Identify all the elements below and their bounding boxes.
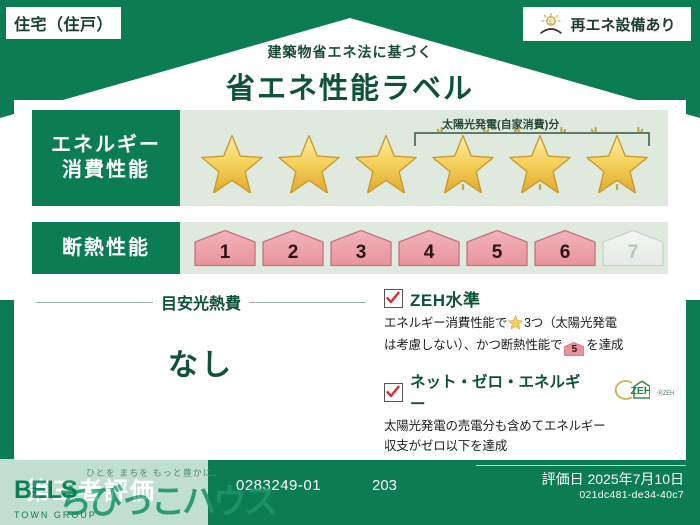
zeh-standard-title: ZEH水準 [410,286,481,311]
criteria-block: ZEH水準 エネルギー消費性能で 3つ（太陽光発電 は考慮しない）、かつ断熱性能… [384,286,674,470]
divider-left [36,302,153,303]
zeh-desc-part2: 3つ（太陽光発電 [524,316,617,330]
energy-performance-label-box: エネルギー 消費性能 [32,110,180,206]
energy-label-line1: エネルギー [51,133,161,158]
utility-cost-heading: 目安光熱費 [161,290,241,314]
zeh-logo-icon: ZEH [604,379,650,406]
zeh-desc-part1: エネルギー消費性能で [384,316,507,330]
insulation-chip-value: 5 [492,242,503,264]
inline-chip-value: 5 [572,344,577,355]
criterion-zeh-head: ZEH水準 [384,286,674,311]
insulation-performance-row: 断熱性能 1 2 3 [32,222,668,274]
room-number: 203 [372,477,397,494]
watermark-brand: BELS [14,476,77,505]
energy-performance-label: 住宅（住戸） E 再エネ設備あり 建築物省エネ法に基づく 省エネ性能ラベル [0,0,700,525]
star-base [196,122,268,194]
insulation-chip-7: 7 [602,229,664,267]
insulation-scale-area: 1 2 3 4 5 [180,222,668,274]
insulation-chip-value: 7 [628,242,639,264]
footer-divider [476,465,686,466]
criterion-net-zero-energy: ネット・ゼロ・エネルギー ZEH ⓇZEH 太陽光発電の売電分も含めてエネルギー… [384,370,674,456]
utility-cost-value: なし [36,340,366,384]
net-zero-energy-description: 太陽光発電の売電分も含めてエネルギー 収支がゼロ以下を達成 [384,417,674,456]
insulation-chip-1: 1 [194,229,256,267]
evaluation-uuid: 021dc481-de34-40c7 [579,489,684,501]
solar-bracket [414,132,650,146]
nze-desc-line2: 収支がゼロ以下を達成 [384,439,507,453]
divider-right [249,302,366,303]
energy-performance-row: エネルギー 消費性能 太陽光発電(自家消費)分 [32,110,668,206]
net-zero-energy-checkbox[interactable] [384,383,403,402]
net-zero-energy-title: ネット・ゼロ・エネルギー [410,370,593,414]
insulation-chip-value: 3 [356,242,367,264]
insulation-chip-4: 4 [398,229,460,267]
zeh-standard-checkbox[interactable] [384,289,403,308]
sun-icon: E [538,12,564,36]
criterion-nze-head: ネット・ゼロ・エネルギー ZEH ⓇZEH [384,370,674,414]
renewable-equipment-label: 再エネ設備あり [570,14,675,35]
insulation-chip-value: 2 [288,242,299,264]
insulation-chip-6: 6 [534,229,596,267]
evaluation-date-label: 評価日 [542,471,584,487]
insulation-chip-value: 4 [424,242,435,264]
utility-cost-heading-row: 目安光熱費 [36,290,366,314]
energy-label-line2: 消費性能 [62,158,150,183]
insulation-chip-value: 1 [220,242,231,264]
insulation-chip-2: 2 [262,229,324,267]
nze-desc-line1: 太陽光発電の売電分も含めてエネルギー [384,419,605,433]
evaluation-date: 評価日 2025年7月10日 [542,469,684,489]
insulation-chip-3: 3 [330,229,392,267]
insulation-chip-5: 5 [466,229,528,267]
inline-insulation-chip: 5 [564,342,584,356]
watermark-subtitle: TOWN GROUP [14,510,97,520]
utility-cost-block: 目安光熱費 なし [36,290,366,384]
label-title-block: 建築物省エネ法に基づく 省エネ性能ラベル [0,42,700,107]
building-type-label: 住宅（住戸） [14,11,113,35]
solar-bracket-label: 太陽光発電(自家消費)分 [442,116,559,132]
energy-stars-area: 太陽光発電(自家消費)分 [180,110,668,206]
zeh-desc-line2-part2: を達成 [586,338,623,352]
star-base [273,122,345,194]
svg-text:ZEH: ZEH [631,385,651,397]
zeh-logo-trademark: ⓇZEH [657,388,674,397]
title-subtitle: 建築物省エネ法に基づく [0,42,700,62]
insulation-label: 断熱性能 [62,236,150,261]
building-type-tag: 住宅（住戸） [5,6,122,40]
renewable-equipment-tag: E 再エネ設備あり [522,6,692,42]
agency-watermark: ひとを まちを もっと豊かに。 ちびっこハウス BELS TOWN GROUP [0,455,300,525]
title-main: 省エネ性能ラベル [0,65,700,107]
svg-text:E: E [549,20,553,26]
insulation-label-box: 断熱性能 [32,222,180,274]
zeh-standard-description: エネルギー消費性能で 3つ（太陽光発電 は考慮しない）、かつ断熱性能で 5を達成 [384,314,674,356]
zeh-desc-line2-part1: は考慮しない）、かつ断熱性能で [384,338,562,352]
insulation-chip-value: 6 [560,242,571,264]
evaluation-date-value: 2025年7月10日 [587,471,684,487]
criterion-zeh-standard: ZEH水準 エネルギー消費性能で 3つ（太陽光発電 は考慮しない）、かつ断熱性能… [384,286,674,356]
inline-star-icon [508,315,523,336]
star-base [350,122,422,194]
